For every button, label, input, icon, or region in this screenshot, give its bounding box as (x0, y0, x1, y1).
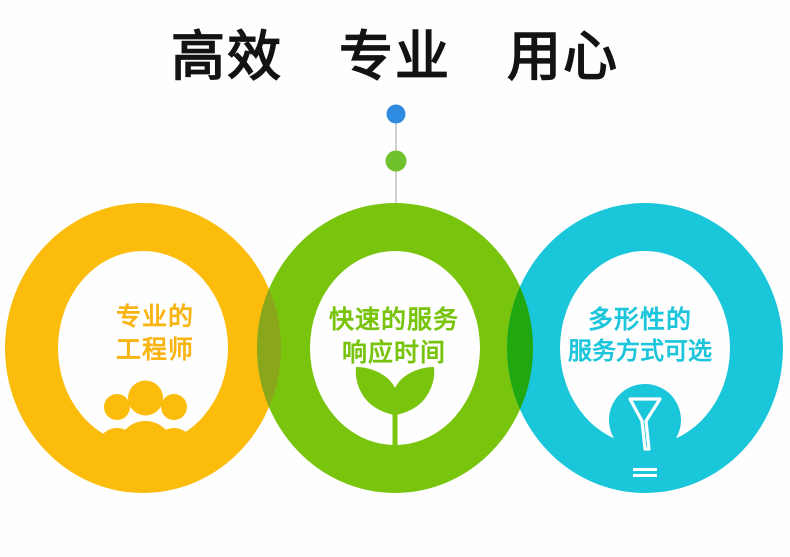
circle-left-line-1: 专业的 (55, 300, 255, 333)
venn-rings (0, 0, 790, 557)
circle-right-line-2: 服务方式可选 (528, 336, 752, 368)
circle-right-line-1: 多形性的 (528, 303, 752, 336)
circle-left-line-2: 工程师 (55, 333, 255, 366)
circle-middle-line-2: 响应时间 (288, 336, 500, 369)
circle-right-label: 多形性的 服务方式可选 (528, 303, 752, 368)
poster-canvas: 高效专业用心 (0, 0, 790, 557)
circle-left-label: 专业的 工程师 (55, 300, 255, 366)
circle-middle-label: 快速的服务 响应时间 (288, 303, 500, 369)
circle-middle-line-1: 快速的服务 (288, 303, 500, 336)
